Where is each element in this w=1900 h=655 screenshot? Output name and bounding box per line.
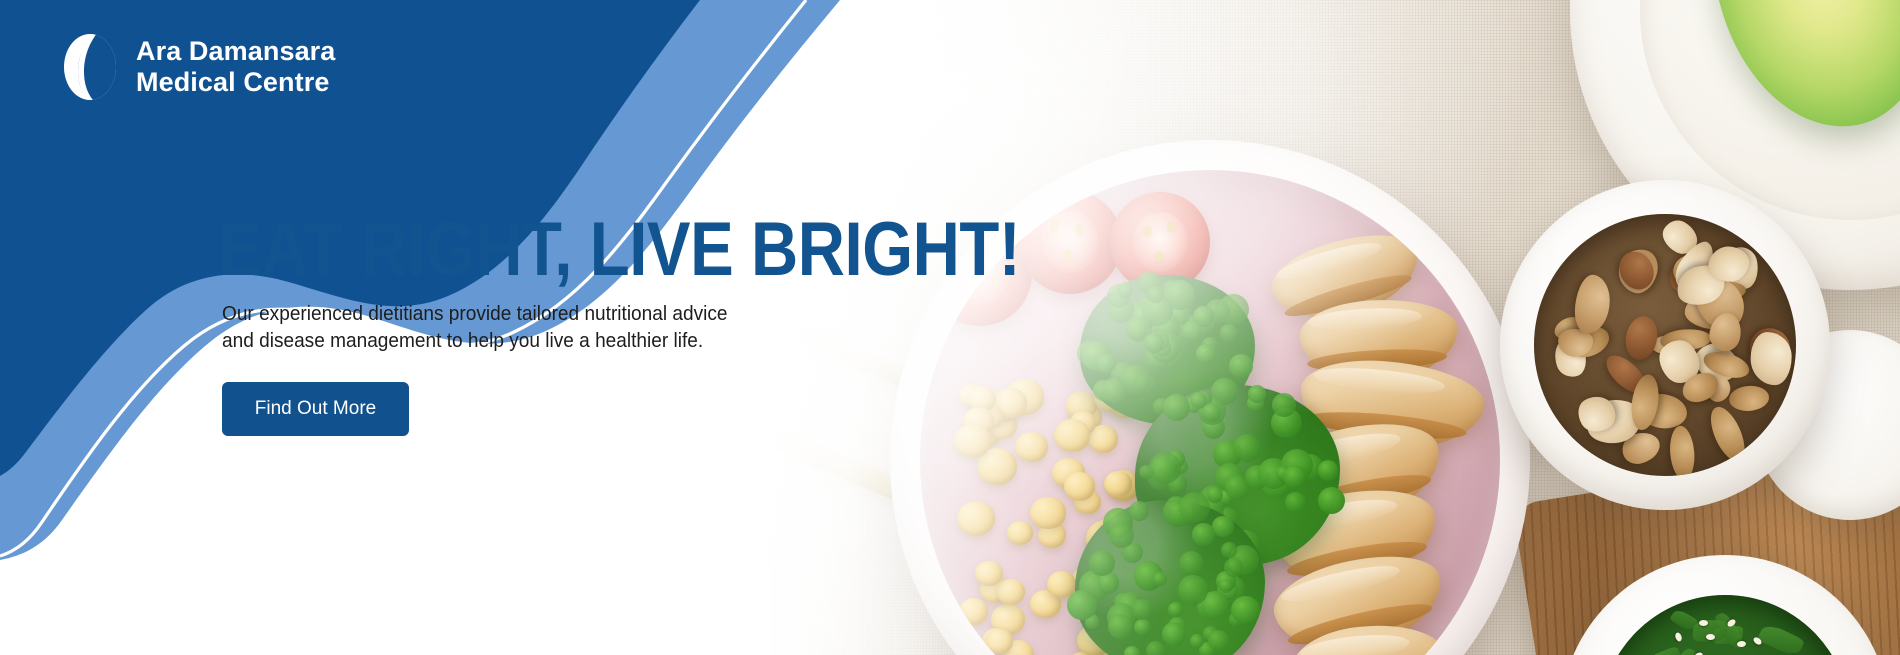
- broccoli-floret: [1075, 500, 1265, 655]
- find-out-more-button[interactable]: Find Out More: [222, 382, 409, 436]
- spinach-bowl: [1560, 555, 1890, 655]
- brand-logo[interactable]: Ara Damansara Medical Centre: [62, 32, 335, 102]
- hero-subcopy: Our experienced dietitians provide tailo…: [222, 300, 728, 355]
- page-title: EAT RIGHT, LIVE BRIGHT!: [218, 212, 1020, 288]
- hero-banner: Ara Damansara Medical Centre EAT RIGHT, …: [0, 0, 1900, 655]
- brand-name: Ara Damansara Medical Centre: [136, 36, 335, 98]
- mixed-nuts-bowl: [1500, 180, 1830, 510]
- circle-crescent-logo-icon: [62, 32, 118, 102]
